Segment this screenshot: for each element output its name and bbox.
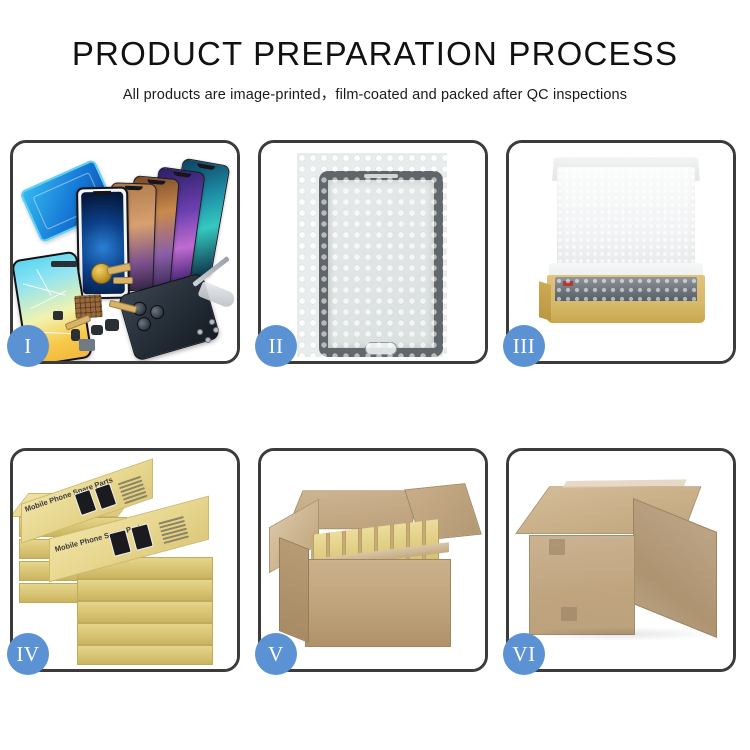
carton-body-front <box>305 559 451 647</box>
step-image-3 <box>509 143 733 361</box>
step-badge-1: I <box>7 325 49 367</box>
kraft-box-side-flap <box>539 281 551 320</box>
carton-body-left <box>279 537 309 643</box>
screw-4 <box>209 319 215 325</box>
step-badge-5: V <box>255 633 297 675</box>
sealed-carton-front-face <box>529 535 635 635</box>
carton-handle-cut-bottom <box>561 607 577 621</box>
step-badge-6: VI <box>503 633 545 675</box>
foam-padding <box>557 167 695 275</box>
page-title: PRODUCT PREPARATION PROCESS <box>0 34 750 74</box>
page-subtitle: All products are image-printed，film-coat… <box>0 83 750 104</box>
step-badge-3: III <box>503 325 545 367</box>
carton-handle-cut-top <box>549 539 565 555</box>
retail-box-r-1 <box>77 645 213 665</box>
step-panel-4: Mobile Phone Spare Parts <box>10 448 240 672</box>
connector-strip-4 <box>91 325 103 335</box>
retail-box-top-right: Mobile Phone Spare Parts <box>49 517 209 561</box>
step-panel-5: V <box>258 448 488 672</box>
retail-box-stack: Mobile Phone Spare Parts <box>19 465 231 661</box>
step-image-5 <box>261 451 485 669</box>
step-image-4: Mobile Phone Spare Parts <box>13 451 237 669</box>
step-panel-2: II <box>258 140 488 364</box>
bubble-wrap-sheet <box>297 153 447 357</box>
screw-2 <box>205 337 211 343</box>
flex-cable-2 <box>113 277 133 284</box>
label-sticker <box>563 281 573 286</box>
step-panel-1: I <box>10 140 240 364</box>
connector-strip-2 <box>53 311 63 320</box>
connector-strip-1 <box>51 261 77 267</box>
screw-3 <box>213 327 219 333</box>
earpiece-slot <box>364 174 398 178</box>
kraft-box-front <box>547 301 705 323</box>
process-step-grid: I II III <box>10 140 740 672</box>
camera-module-part <box>105 319 119 331</box>
retail-box-r-2 <box>77 623 213 645</box>
step-panel-3: III <box>506 140 736 364</box>
retail-box-r-3 <box>77 601 213 623</box>
home-button <box>365 342 397 355</box>
step-badge-4: IV <box>7 633 49 675</box>
sealed-carton-right-face <box>633 498 717 638</box>
battery-part <box>79 339 95 351</box>
screw-1 <box>197 329 203 335</box>
page-header: PRODUCT PREPARATION PROCESS All products… <box>0 0 750 104</box>
carton-shadow <box>527 627 717 641</box>
step-panel-6: VI <box>506 448 736 672</box>
wrapped-screen-assembly <box>319 171 443 357</box>
step-badge-2: II <box>255 325 297 367</box>
wrapped-screen-in-box <box>555 277 697 303</box>
retail-box-r-4 <box>77 579 213 601</box>
step-image-2 <box>261 143 485 361</box>
step-image-1 <box>13 143 237 361</box>
step-image-6 <box>509 451 733 669</box>
